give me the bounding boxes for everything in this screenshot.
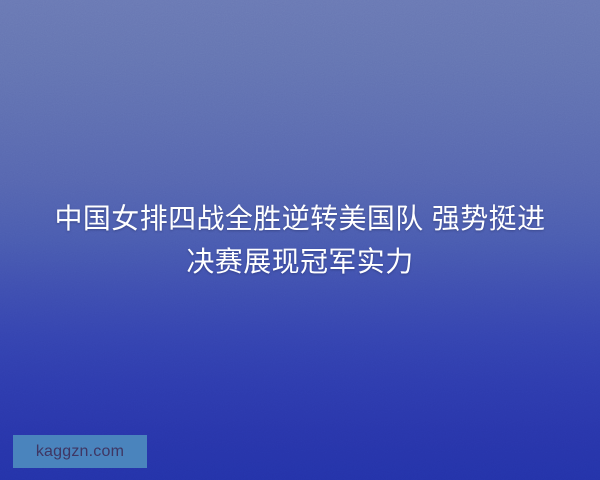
article-cover-card: 中国女排四战全胜逆转美国队 强势挺进 决赛展现冠军实力 kaggzn.com [0,0,600,480]
headline-block: 中国女排四战全胜逆转美国队 强势挺进 决赛展现冠军实力 [0,197,600,283]
headline-line-2: 决赛展现冠军实力 [24,240,576,283]
headline-line-1: 中国女排四战全胜逆转美国队 强势挺进 [24,197,576,240]
watermark-label: kaggzn.com [36,444,124,460]
watermark-badge: kaggzn.com [13,435,147,468]
